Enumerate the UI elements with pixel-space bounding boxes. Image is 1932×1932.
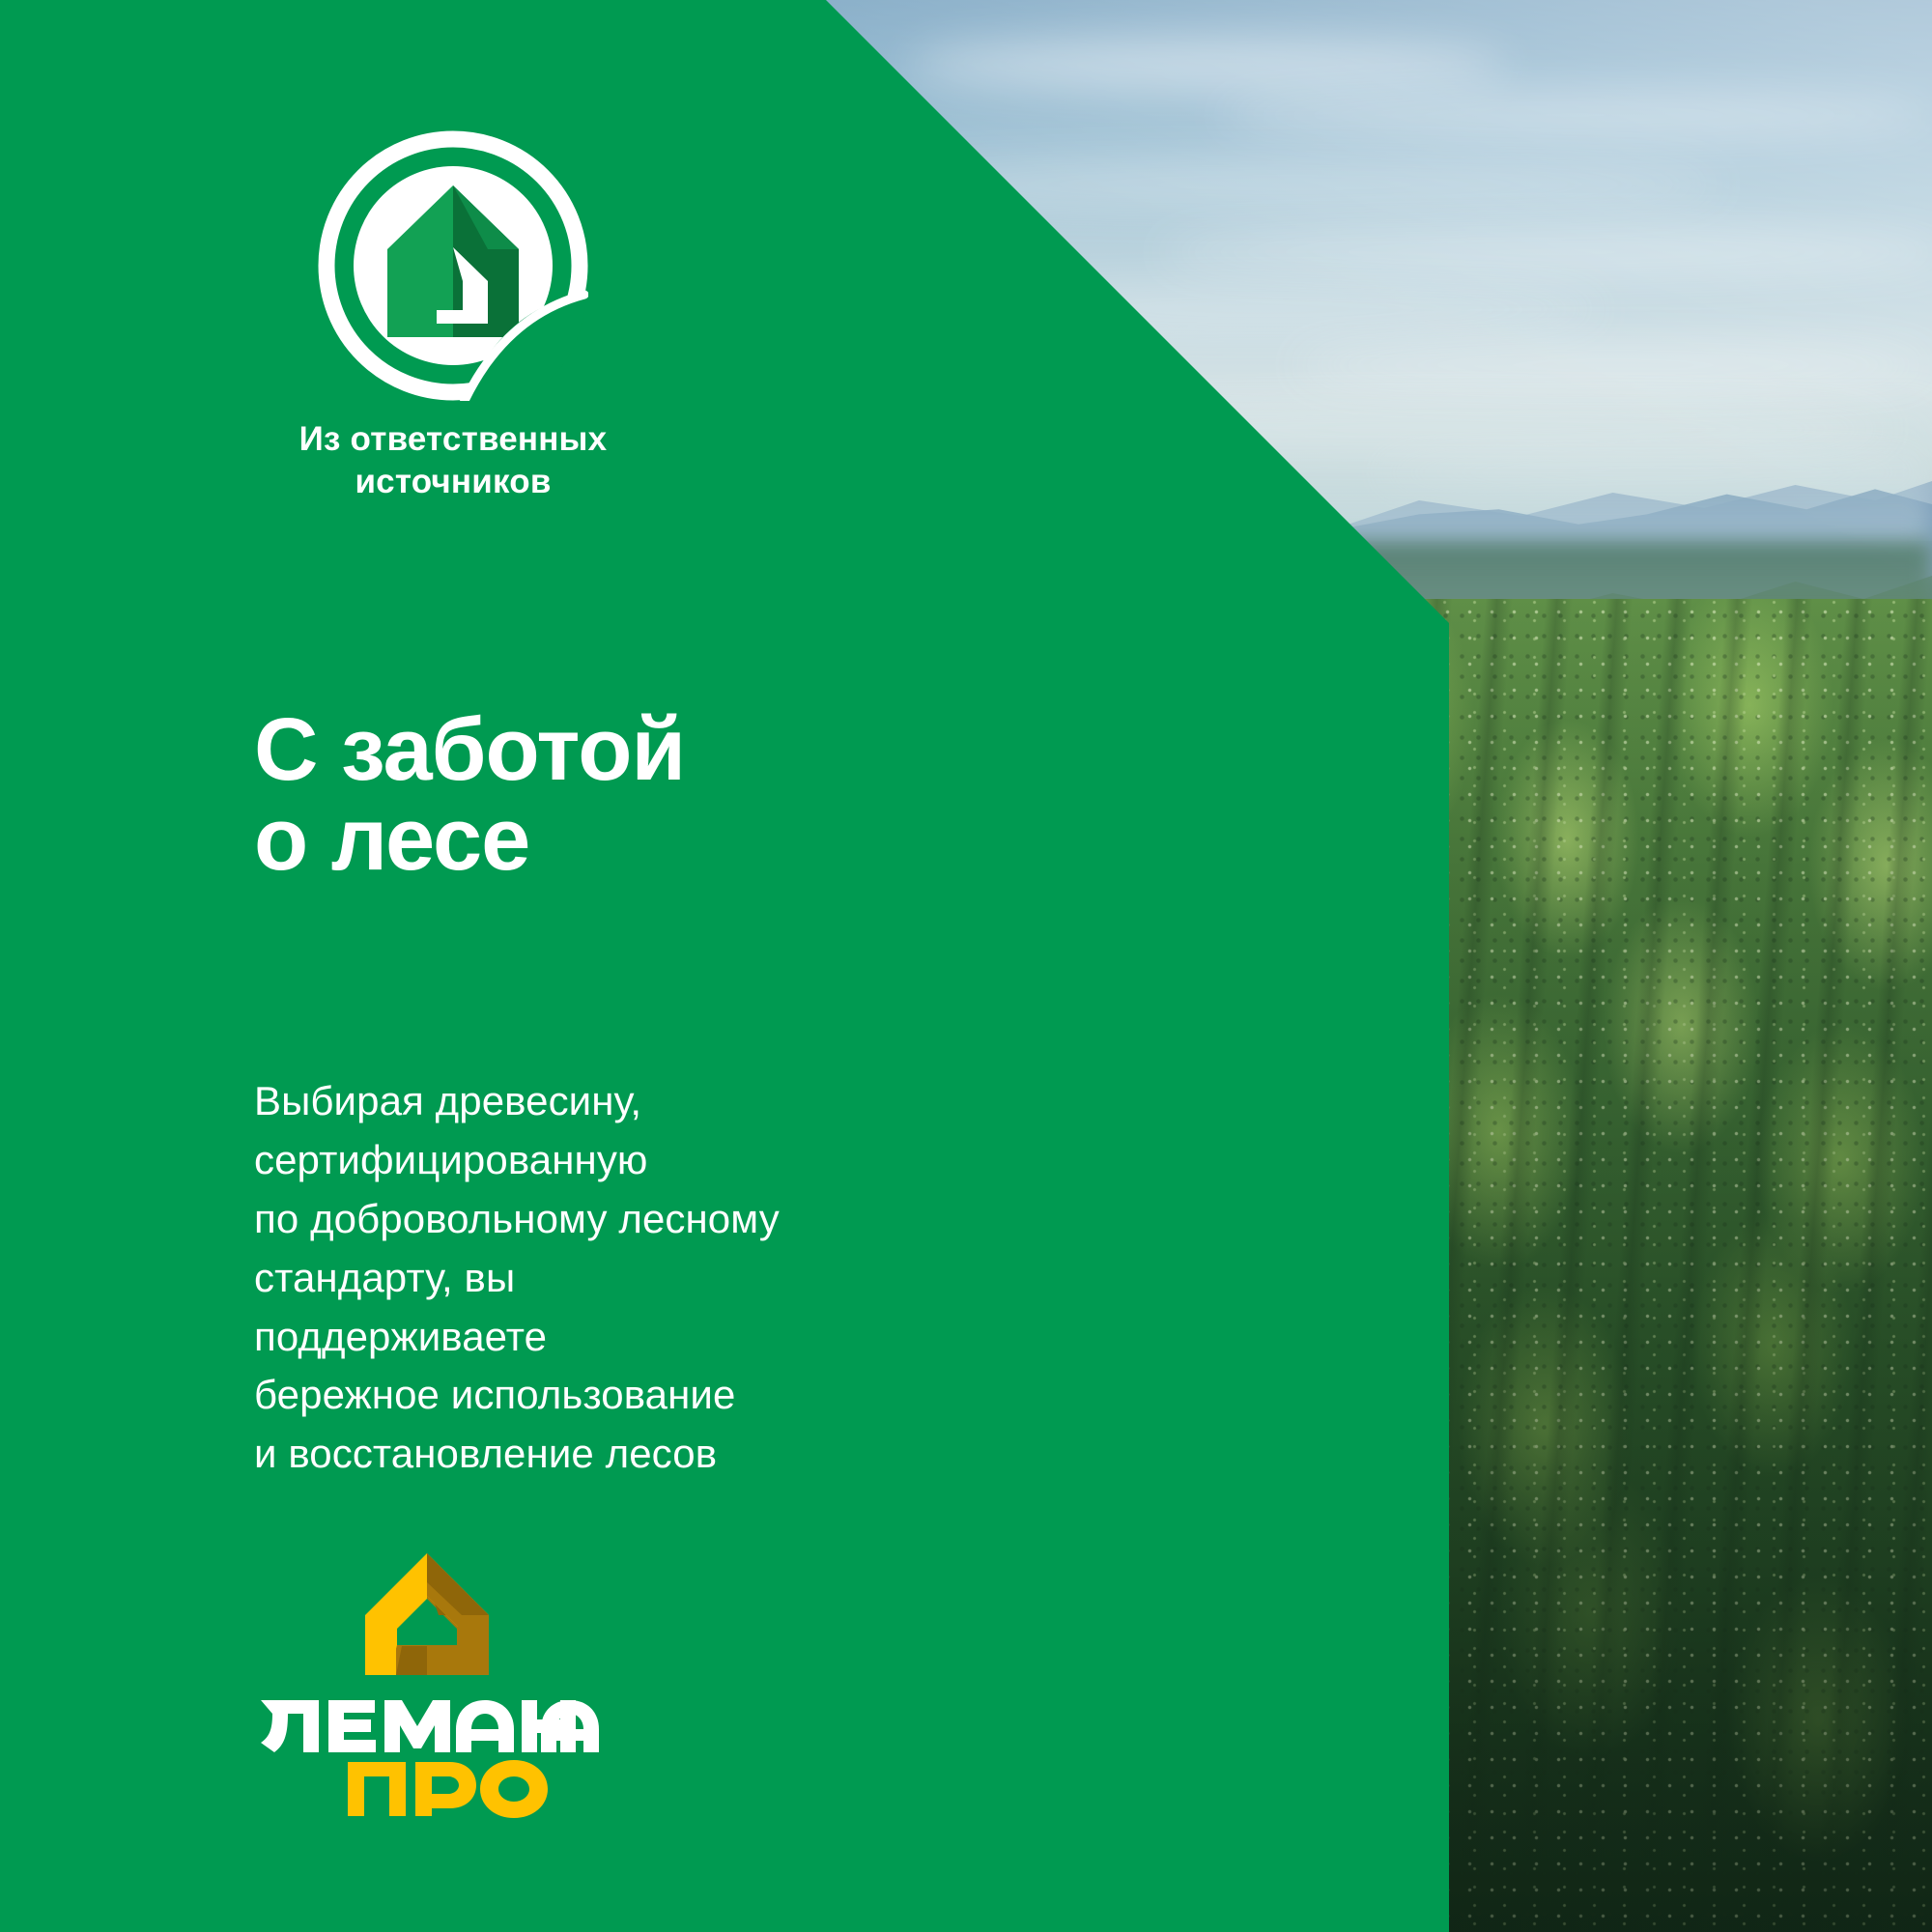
lemana-pro-logo bbox=[255, 1544, 599, 1824]
badge-caption-line2: источников bbox=[355, 463, 551, 500]
forest-photo bbox=[792, 0, 1932, 1932]
page-title: С заботой о лесе bbox=[254, 705, 685, 887]
cloud-band bbox=[1294, 344, 1932, 386]
cloud-band bbox=[1217, 93, 1932, 137]
badge-caption: Из ответственныхисточников bbox=[0, 418, 792, 503]
content-column: Из ответственныхисточников С заботой о л… bbox=[0, 0, 792, 1932]
poster-root: Из ответственныхисточников С заботой о л… bbox=[0, 0, 1932, 1932]
eco-house-leaf-circle-icon bbox=[318, 130, 588, 401]
badge-caption-line1: Из ответственных bbox=[299, 420, 608, 458]
cloud-band bbox=[1159, 228, 1932, 276]
cloud-band bbox=[908, 39, 1507, 91]
body-paragraph: Выбирая древесину, сертифицированную по … bbox=[254, 1072, 792, 1484]
